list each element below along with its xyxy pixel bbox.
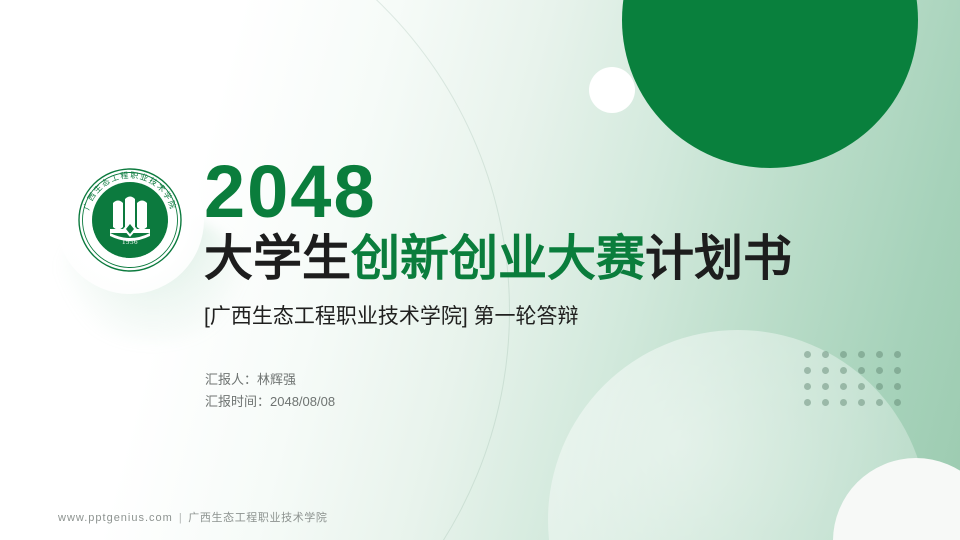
presentation-title-slide: 1956 广西生态工程职业技术学院 GUANGXI ECO-ENGINEERIN…	[0, 0, 960, 540]
headline-part-1: 大学生	[204, 232, 351, 286]
date-line: 汇报时间：2048/08/08	[205, 391, 335, 413]
headline-part-3: 计划书	[645, 232, 792, 286]
presentation-meta: 汇报人：林辉强 汇报时间：2048/08/08	[205, 369, 335, 413]
subtitle-line: [广西生态工程职业技术学院] 第一轮答辩	[204, 303, 579, 331]
svg-text:1956: 1956	[122, 238, 138, 246]
year-heading: 2048	[204, 155, 377, 229]
presenter-line: 汇报人：林辉强	[205, 369, 335, 391]
footer-website: www.pptgenius.com	[58, 512, 173, 524]
university-emblem-logo: 1956 广西生态工程职业技术学院 GUANGXI ECO-ENGINEERIN…	[77, 167, 183, 273]
footer-separator: |	[179, 512, 182, 524]
slide-footer: www.pptgenius.com|广西生态工程职业技术学院	[58, 511, 328, 525]
main-headline: 大学生创新创业大赛计划书	[204, 231, 792, 287]
footer-organization: 广西生态工程职业技术学院	[188, 512, 327, 524]
headline-part-2-highlight: 创新创业大赛	[351, 232, 645, 286]
title-text-block: 2048 大学生创新创业大赛计划书 [广西生态工程职业技术学院] 第一轮答辩 汇…	[204, 0, 904, 540]
